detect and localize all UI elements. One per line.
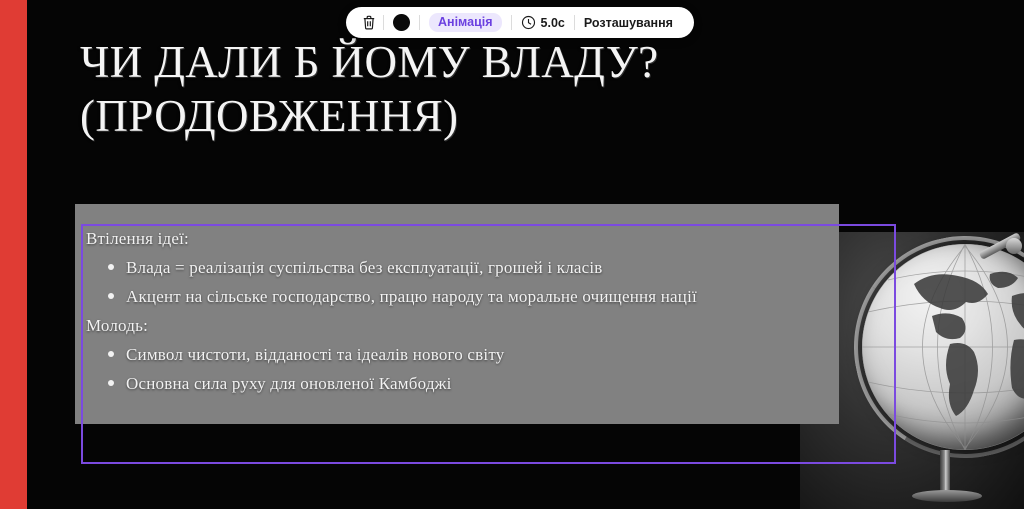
slide-title-line-2: (ПРОДОВЖЕННЯ) bbox=[80, 90, 840, 144]
clock-icon bbox=[521, 15, 536, 30]
slide-title-line-1: ЧИ ДАЛИ Б ЙОМУ ВЛАДУ? bbox=[80, 36, 840, 90]
bullet-dot-icon bbox=[108, 351, 114, 357]
animation-button[interactable]: Анімація bbox=[422, 7, 509, 38]
color-swatch-icon bbox=[393, 14, 410, 31]
list-item-label: Акцент на сільське господарство, працю н… bbox=[126, 287, 697, 306]
list-item-label: Влада = реалізація суспільства без експл… bbox=[126, 258, 603, 277]
toolbar-separator bbox=[383, 15, 384, 30]
duration-label: 5.0с bbox=[541, 16, 565, 30]
slide-editor-canvas: ЧИ ДАЛИ Б ЙОМУ ВЛАДУ? (ПРОДОВЖЕННЯ) Втіл… bbox=[0, 0, 1024, 509]
position-label: Розташування bbox=[584, 16, 673, 30]
toolbar-separator bbox=[574, 15, 575, 30]
globe-base bbox=[912, 490, 982, 502]
content-text-block[interactable]: Втілення ідеї: Влада = реалізація суспіл… bbox=[82, 224, 892, 398]
trash-icon bbox=[362, 15, 376, 31]
bullet-dot-icon bbox=[108, 380, 114, 386]
toolbar-separator bbox=[419, 15, 420, 30]
position-button[interactable]: Розташування bbox=[577, 7, 680, 38]
list-item: Влада = реалізація суспільства без експл… bbox=[82, 253, 892, 282]
list-item-label: Символ чистоти, відданості та ідеалів но… bbox=[126, 345, 504, 364]
slide-accent-stripe bbox=[0, 0, 27, 509]
list-item-label: Основна сила руху для оновленої Камбоджі bbox=[126, 374, 452, 393]
text-heading-implementation: Втілення ідеї: bbox=[82, 224, 892, 253]
text-heading-youth: Молодь: bbox=[82, 311, 892, 340]
color-swatch-button[interactable] bbox=[386, 7, 417, 38]
list-item: Акцент на сільське господарство, працю н… bbox=[82, 282, 892, 311]
globe-axis-knob-upper bbox=[1006, 238, 1022, 254]
floating-toolbar: Анімація 5.0с Розташування bbox=[346, 7, 694, 38]
slide-title[interactable]: ЧИ ДАЛИ Б ЙОМУ ВЛАДУ? (ПРОДОВЖЕННЯ) bbox=[80, 36, 840, 143]
list-item: Символ чистоти, відданості та ідеалів но… bbox=[82, 340, 892, 369]
animation-label: Анімація bbox=[429, 13, 502, 32]
toolbar-separator bbox=[511, 15, 512, 30]
delete-button[interactable] bbox=[357, 7, 381, 38]
list-item: Основна сила руху для оновленої Камбоджі bbox=[82, 369, 892, 398]
duration-button[interactable]: 5.0с bbox=[514, 7, 572, 38]
bullet-dot-icon bbox=[108, 293, 114, 299]
bullet-dot-icon bbox=[108, 264, 114, 270]
